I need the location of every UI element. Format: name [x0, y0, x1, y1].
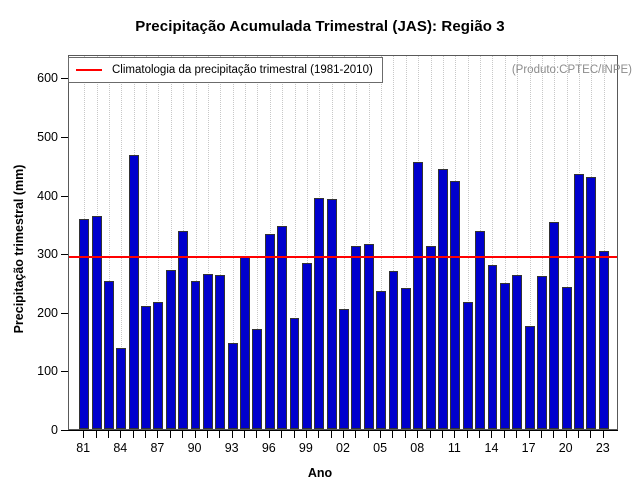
bar	[389, 271, 399, 429]
bar	[178, 231, 188, 429]
x-axis-tick-mark	[133, 431, 134, 438]
x-axis-tick-mark	[467, 431, 468, 438]
x-axis-tick-mark	[145, 431, 146, 438]
bar	[438, 169, 448, 429]
x-axis-tick-mark	[294, 431, 295, 438]
x-axis-tick-mark	[417, 431, 418, 438]
x-axis-tick-mark	[442, 431, 443, 438]
bar	[475, 231, 485, 429]
y-axis-tick-mark	[61, 313, 68, 314]
y-axis-tick-label: 200	[18, 306, 58, 320]
x-axis-tick-mark	[83, 431, 84, 438]
x-axis-tick-mark	[306, 431, 307, 438]
bar	[364, 244, 374, 429]
x-axis-title: Ano	[0, 466, 640, 480]
x-axis-tick-mark	[380, 431, 381, 438]
x-axis-tick-mark	[108, 431, 109, 438]
y-axis-tick-mark	[61, 254, 68, 255]
x-axis-tick-label: 99	[299, 441, 313, 455]
bar	[351, 246, 361, 429]
bar	[562, 287, 572, 429]
bar	[141, 306, 151, 429]
y-axis-tick-label: 400	[18, 189, 58, 203]
x-axis-tick-mark	[244, 431, 245, 438]
x-axis-tick-mark	[195, 431, 196, 438]
bar	[104, 281, 114, 429]
x-axis-tick-mark	[479, 431, 480, 438]
x-axis-tick-label: 08	[410, 441, 424, 455]
x-axis-tick-mark	[504, 431, 505, 438]
bar	[215, 275, 225, 429]
bar	[586, 177, 596, 429]
x-axis-tick-mark	[566, 431, 567, 438]
x-axis-tick-label: 17	[522, 441, 536, 455]
x-axis-tick-mark	[529, 431, 530, 438]
x-axis-tick-label: 96	[262, 441, 276, 455]
bar	[302, 263, 312, 429]
x-axis-tick-mark	[182, 431, 183, 438]
plot-inner	[69, 56, 617, 429]
x-axis-tick-mark	[157, 431, 158, 438]
x-axis-tick-label: 23	[596, 441, 610, 455]
bar	[314, 198, 324, 429]
x-axis-tick-mark	[207, 431, 208, 438]
x-axis-tick-mark	[392, 431, 393, 438]
legend-line-swatch	[76, 69, 102, 71]
x-axis-tick-label: 87	[150, 441, 164, 455]
x-axis-tick-label: 81	[76, 441, 90, 455]
x-axis-tick-mark	[541, 431, 542, 438]
producer-annotation: (Produto:CPTEC/INPE)	[512, 64, 632, 76]
chart-page: Precipitação Acumulada Trimestral (JAS):…	[0, 0, 640, 500]
bar	[166, 270, 176, 429]
x-axis-tick-mark	[256, 431, 257, 438]
x-axis-tick-mark	[590, 431, 591, 438]
x-axis-tick-mark	[516, 431, 517, 438]
x-axis-tick-mark	[96, 431, 97, 438]
bar	[240, 257, 250, 429]
legend: Climatologia da precipitação trimestral …	[68, 57, 383, 83]
bar	[339, 309, 349, 429]
x-axis-tick-mark	[603, 431, 604, 438]
x-axis-tick-label: 93	[225, 441, 239, 455]
x-axis-tick-mark	[331, 431, 332, 438]
x-axis-tick-mark	[454, 431, 455, 438]
bar	[537, 276, 547, 429]
bar	[327, 199, 337, 429]
x-axis-tick-mark	[430, 431, 431, 438]
y-axis-tick-mark	[61, 430, 68, 431]
x-axis-tick-mark	[120, 431, 121, 438]
x-axis-tick-mark	[368, 431, 369, 438]
x-axis-tick-label: 05	[373, 441, 387, 455]
bar	[450, 181, 460, 429]
climatology-reference-line	[69, 256, 617, 258]
bar	[79, 219, 89, 429]
page-title: Precipitação Acumulada Trimestral (JAS):…	[0, 18, 640, 35]
x-axis-tick-mark	[232, 431, 233, 438]
bar	[252, 329, 262, 429]
y-axis-tick-label: 0	[18, 423, 58, 437]
x-axis-tick-mark	[553, 431, 554, 438]
x-axis-tick-label: 90	[188, 441, 202, 455]
x-axis-tick-mark	[219, 431, 220, 438]
bar	[191, 281, 201, 429]
bar	[525, 326, 535, 429]
bar	[116, 348, 126, 429]
y-axis-tick-mark	[61, 137, 68, 138]
x-axis-tick-mark	[281, 431, 282, 438]
x-axis-tick-mark	[578, 431, 579, 438]
y-axis-tick-label: 500	[18, 130, 58, 144]
x-axis-tick-mark	[269, 431, 270, 438]
x-axis-tick-label: 11	[448, 441, 461, 455]
y-axis-tick-label: 600	[18, 71, 58, 85]
bar	[265, 234, 275, 429]
y-axis-tick-mark	[61, 371, 68, 372]
bar	[426, 246, 436, 429]
bar	[153, 302, 163, 429]
x-axis-tick-mark	[405, 431, 406, 438]
y-axis-tick-mark	[61, 78, 68, 79]
y-axis-tick-mark	[61, 196, 68, 197]
legend-item-label: Climatologia da precipitação trimestral …	[112, 64, 373, 76]
bar	[290, 318, 300, 429]
bar	[376, 291, 386, 429]
x-axis-tick-label: 14	[485, 441, 499, 455]
x-axis-tick-label: 20	[559, 441, 573, 455]
x-axis-tick-mark	[355, 431, 356, 438]
bar	[413, 162, 423, 429]
bar	[599, 251, 609, 429]
x-axis-tick-label: 84	[113, 441, 127, 455]
bar	[129, 155, 139, 429]
x-axis-tick-mark	[343, 431, 344, 438]
bar	[488, 265, 498, 429]
bar	[203, 274, 213, 429]
y-axis-tick-label: 100	[18, 364, 58, 378]
x-axis-tick-mark	[170, 431, 171, 438]
bar	[401, 288, 411, 429]
bar	[92, 216, 102, 429]
bar	[500, 283, 510, 429]
x-axis-tick-label: 02	[336, 441, 350, 455]
bar	[549, 222, 559, 429]
bar	[463, 302, 473, 429]
x-axis-tick-mark	[491, 431, 492, 438]
plot-area	[68, 55, 618, 430]
bar	[512, 275, 522, 429]
bar	[574, 174, 584, 429]
bar	[228, 343, 238, 429]
y-axis-tick-label: 300	[18, 247, 58, 261]
x-axis-tick-mark	[318, 431, 319, 438]
